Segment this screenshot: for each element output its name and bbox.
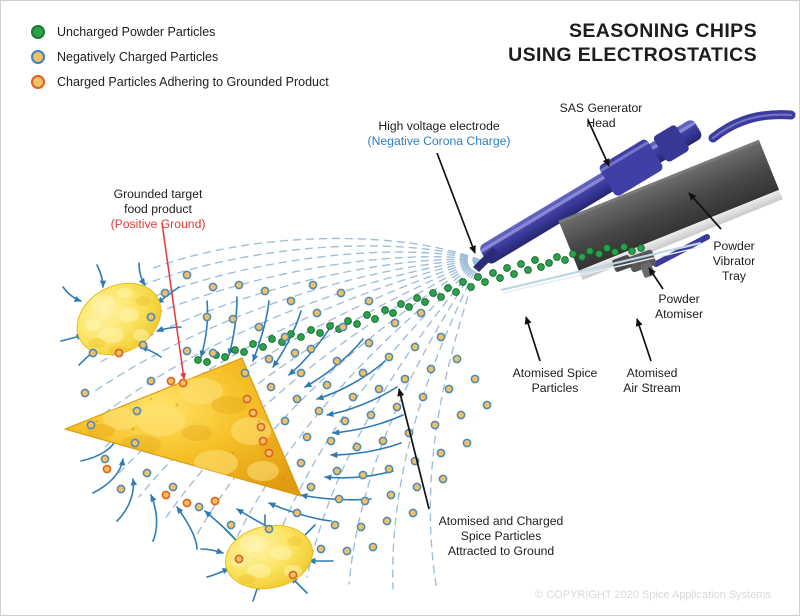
label-spice-line-2: Particles [496, 381, 614, 396]
arrow-atomised-air [637, 319, 651, 361]
blue-ring-circle-icon [31, 50, 45, 64]
copyright-notice: © COPYRIGHT 2020 Spice Application Syste… [535, 589, 771, 601]
label-vibrator-line-1: Powder [698, 239, 770, 254]
label-sas-line-2: Head [541, 116, 661, 131]
arrow-high-voltage [437, 153, 475, 253]
title-line-1: SEASONING CHIPS [508, 19, 757, 43]
label-atomised-air-stream: Atomised Air Stream [609, 366, 695, 396]
legend: Uncharged Powder Particles Negatively Ch… [31, 21, 329, 96]
label-powder-atomiser: Powder Atomiser [640, 292, 718, 322]
label-vibrator-line-2: Vibrator [698, 254, 770, 269]
label-sas-generator-head: SAS Generator Head [541, 101, 661, 131]
green-filled-circle-icon [31, 25, 45, 39]
label-high-voltage-electrode: High voltage electrode (Negative Corona … [344, 119, 534, 149]
label-high-voltage-main: High voltage electrode [344, 119, 534, 134]
label-atomised-spice-particles: Atomised Spice Particles [496, 366, 614, 396]
label-attracted-to-ground: Atomised and Charged Spice Particles Att… [406, 514, 596, 559]
label-attracted-line-3: Attracted to Ground [406, 544, 596, 559]
orange-ring-circle-icon [31, 75, 45, 89]
legend-item-negative: Negatively Charged Particles [31, 46, 329, 68]
page-title: SEASONING CHIPS USING ELECTROSTATICS [508, 19, 757, 68]
label-sas-line-1: SAS Generator [541, 101, 661, 116]
label-attracted-line-1: Atomised and Charged [406, 514, 596, 529]
arrow-attracted-to-ground [399, 389, 429, 509]
arrow-powder-atomiser [649, 268, 663, 289]
label-high-voltage-sub: (Negative Corona Charge) [344, 134, 534, 149]
ground-pointer-arrow [162, 223, 184, 379]
label-powder-vibrator-tray: Powder Vibrator Tray [698, 239, 770, 284]
label-grounded-food-product: Grounded target food product (Positive G… [93, 187, 223, 232]
label-air-line-2: Air Stream [609, 381, 695, 396]
label-air-line-1: Atomised [609, 366, 695, 381]
legend-label-adhering: Charged Particles Adhering to Grounded P… [57, 75, 329, 89]
arrow-atomised-spice [526, 317, 540, 361]
legend-label-negative: Negatively Charged Particles [57, 50, 218, 64]
label-vibrator-line-3: Tray [698, 269, 770, 284]
title-line-2: USING ELECTROSTATICS [508, 43, 757, 67]
label-spice-line-1: Atomised Spice [496, 366, 614, 381]
label-atomiser-line-2: Atomiser [640, 307, 718, 322]
label-ground-line-1: Grounded target [93, 187, 223, 202]
legend-label-uncharged: Uncharged Powder Particles [57, 25, 215, 39]
label-ground-sub: (Positive Ground) [93, 217, 223, 232]
label-ground-line-2: food product [93, 202, 223, 217]
legend-item-adhering: Charged Particles Adhering to Grounded P… [31, 71, 329, 93]
label-atomiser-line-1: Powder [640, 292, 718, 307]
diagram-canvas: Uncharged Powder Particles Negatively Ch… [0, 0, 800, 616]
legend-item-uncharged: Uncharged Powder Particles [31, 21, 329, 43]
label-attracted-line-2: Spice Particles [406, 529, 596, 544]
